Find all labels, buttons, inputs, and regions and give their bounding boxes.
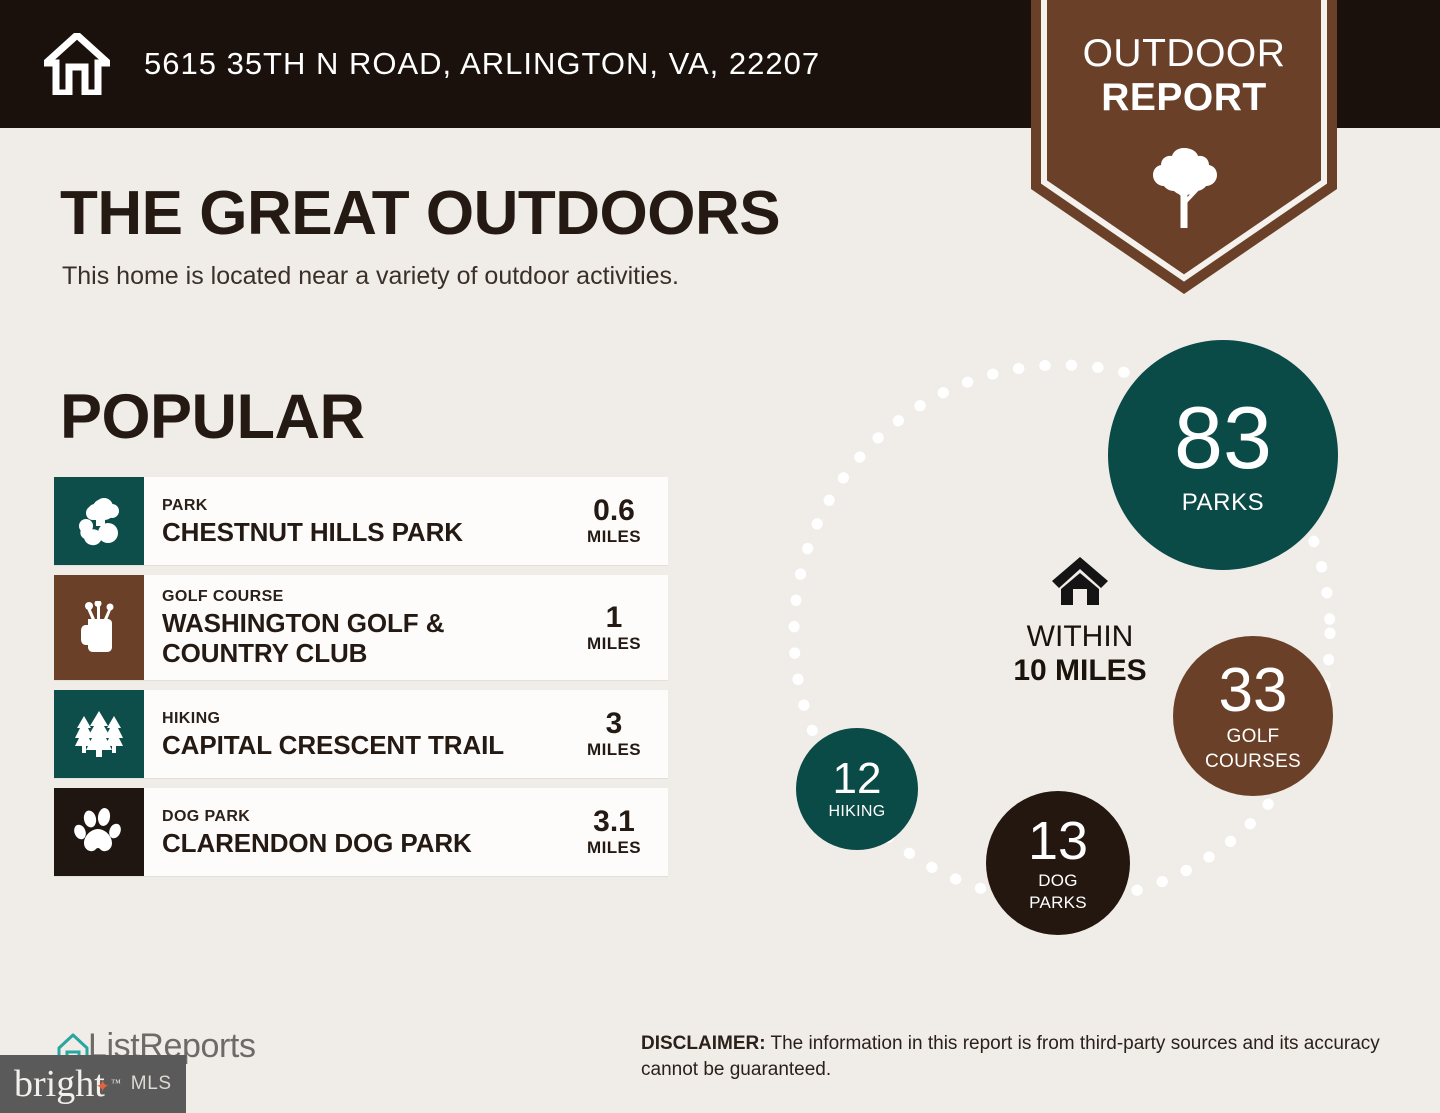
list-item[interactable]: DOG PARK CLARENDON DOG PARK 3.1 MILES (54, 788, 668, 876)
pine-trees-icon (54, 690, 144, 778)
bright-mls-watermark: bright ✦ ™ MLS (0, 1055, 186, 1113)
list-item-distance: 1 MILES (576, 575, 668, 680)
list-item-distance: 3.1 MILES (576, 788, 668, 876)
home-icon (44, 33, 110, 95)
bubble-parks[interactable]: 83 PARKS (1108, 340, 1338, 570)
page-title: THE GREAT OUTDOORS (60, 178, 780, 249)
distance-value: 1 (606, 602, 623, 634)
distance-unit: MILES (587, 838, 641, 858)
popular-list: PARK CHESTNUT HILLS PARK 0.6 MILES (54, 477, 668, 886)
list-item-text: PARK CHESTNUT HILLS PARK (144, 477, 576, 565)
tree-icon (1145, 144, 1223, 230)
distance-value: 3.1 (593, 806, 635, 838)
distance-value: 3 (606, 708, 623, 740)
header-address: 5615 35TH N ROAD, ARLINGTON, VA, 22207 (144, 46, 820, 82)
trademark-symbol: ™ (111, 1065, 121, 1103)
bubble-dog-label-2: PARKS (1029, 894, 1087, 912)
list-item-text: DOG PARK CLARENDON DOG PARK (144, 788, 576, 876)
bright-text: bright (14, 1063, 105, 1105)
golf-bag-icon (54, 575, 144, 680)
list-item-name: CLARENDON DOG PARK (162, 828, 566, 858)
distance-unit: MILES (587, 527, 641, 547)
bubble-golf-label-1: GOLF (1227, 727, 1280, 747)
disclaimer-label: DISCLAIMER: (641, 1033, 766, 1054)
distance-unit: MILES (587, 740, 641, 760)
popular-heading: POPULAR (60, 381, 365, 453)
bright-wordmark: bright ✦ ™ (14, 1065, 105, 1103)
bubble-hiking-label: HIKING (829, 804, 886, 821)
within-10-miles-bubble-chart: 83 PARKS 33 GOLF COURSES 13 DOG PARKS 12… (760, 330, 1400, 950)
bubble-dog-value: 13 (1028, 814, 1088, 868)
disclaimer: DISCLAIMER: The information in this repo… (641, 1031, 1396, 1083)
distance-value: 0.6 (593, 495, 635, 527)
list-item-text: HIKING CAPITAL CRESCENT TRAIL (144, 690, 576, 778)
bubble-parks-value: 83 (1174, 394, 1272, 482)
chart-center-line-2: 10 MILES (965, 654, 1195, 688)
bright-star-icon: ✦ (96, 1068, 110, 1106)
list-item-name: CHESTNUT HILLS PARK (162, 517, 566, 547)
list-item-text: GOLF COURSE WASHINGTON GOLF & COUNTRY CL… (144, 575, 576, 680)
list-item[interactable]: GOLF COURSE WASHINGTON GOLF & COUNTRY CL… (54, 575, 668, 680)
distance-unit: MILES (587, 634, 641, 654)
list-item-distance: 3 MILES (576, 690, 668, 778)
bubble-golf-label-2: COURSES (1205, 752, 1301, 772)
bubble-parks-label: PARKS (1182, 490, 1265, 515)
list-item-category: HIKING (162, 709, 566, 729)
chart-center-label: WITHIN 10 MILES (965, 555, 1195, 688)
list-item-name: CAPITAL CRESCENT TRAIL (162, 730, 566, 760)
list-item-category: PARK (162, 496, 566, 516)
page-subtitle: This home is located near a variety of o… (62, 262, 679, 291)
mls-text: MLS (131, 1073, 172, 1095)
list-item-category: DOG PARK (162, 807, 566, 827)
bubble-golf-courses[interactable]: 33 GOLF COURSES (1173, 636, 1333, 796)
list-item[interactable]: HIKING CAPITAL CRESCENT TRAIL 3 MILES (54, 690, 668, 778)
list-item-category: GOLF COURSE (162, 587, 566, 607)
bubble-hiking-value: 12 (833, 757, 882, 801)
park-trees-icon (54, 477, 144, 565)
list-item[interactable]: PARK CHESTNUT HILLS PARK 0.6 MILES (54, 477, 668, 565)
list-item-distance: 0.6 MILES (576, 477, 668, 565)
bubble-dog-parks[interactable]: 13 DOG PARKS (986, 791, 1130, 935)
list-item-name: WASHINGTON GOLF & COUNTRY CLUB (162, 608, 566, 668)
home-icon (965, 555, 1195, 612)
bubble-golf-value: 33 (1219, 660, 1288, 722)
bubble-hiking[interactable]: 12 HIKING (796, 728, 918, 850)
chart-center-line-1: WITHIN (965, 620, 1195, 654)
outdoor-report-badge: OUTDOOR REPORT (1031, 0, 1337, 300)
bubble-dog-label-1: DOG (1038, 872, 1078, 890)
paw-print-icon (54, 788, 144, 876)
